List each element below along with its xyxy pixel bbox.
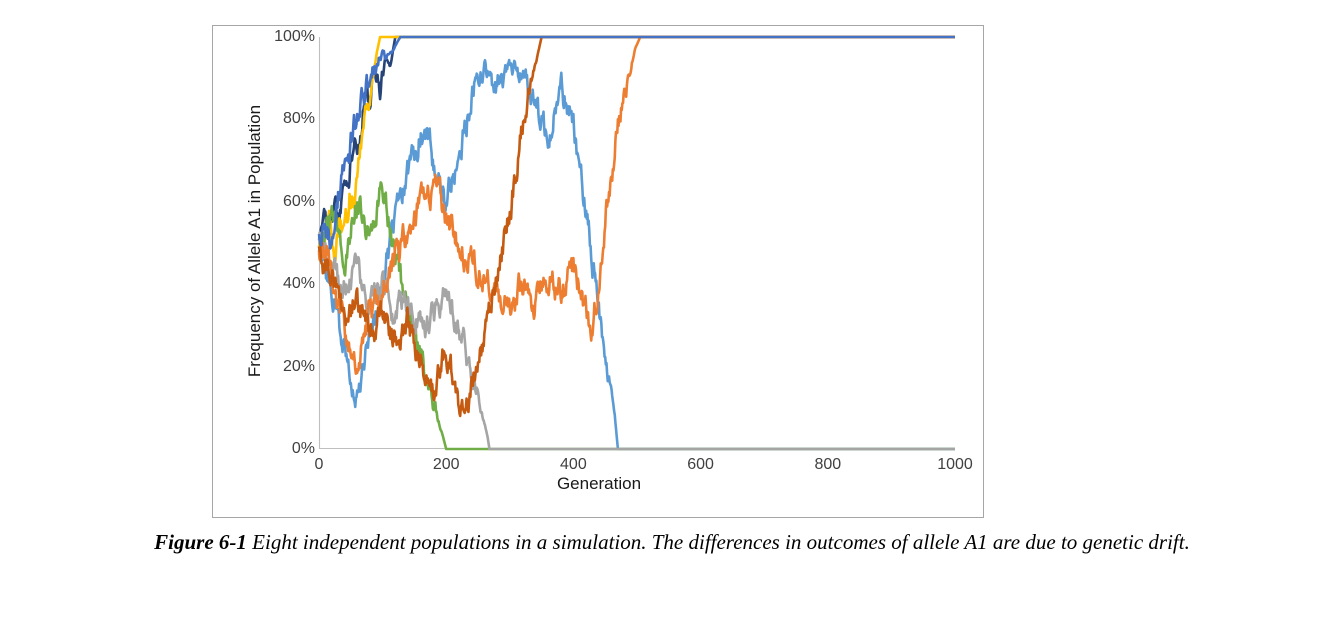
y-tick-label: 20% <box>225 359 315 375</box>
x-tick-label: 200 <box>406 457 486 473</box>
y-tick-label: 0% <box>225 441 315 457</box>
figure-page: Frequency of Allele A1 in Population Gen… <box>0 0 1344 630</box>
y-tick-label: 40% <box>225 276 315 292</box>
y-tick-label: 100% <box>225 29 315 45</box>
plot-area <box>319 37 955 449</box>
axis-lines <box>319 37 955 449</box>
line-chart-svg <box>319 37 955 449</box>
x-tick-label: 600 <box>661 457 741 473</box>
caption-text: Eight independent populations in a simul… <box>247 530 1190 554</box>
y-axis-title: Frequency of Allele A1 in Population <box>245 31 265 451</box>
y-tick-label: 60% <box>225 194 315 210</box>
chart-frame: Frequency of Allele A1 in Population Gen… <box>212 25 984 518</box>
x-tick-label: 400 <box>533 457 613 473</box>
x-tick-label: 800 <box>788 457 868 473</box>
y-tick-label: 80% <box>225 111 315 127</box>
caption-label: Figure 6-1 <box>154 530 247 554</box>
figure-caption: Figure 6-1 Eight independent populations… <box>62 528 1282 557</box>
x-tick-label: 1000 <box>915 457 995 473</box>
series-line <box>319 60 955 449</box>
x-axis-title: Generation <box>213 474 985 494</box>
series-group <box>319 37 955 449</box>
x-tick-label: 0 <box>279 457 359 473</box>
